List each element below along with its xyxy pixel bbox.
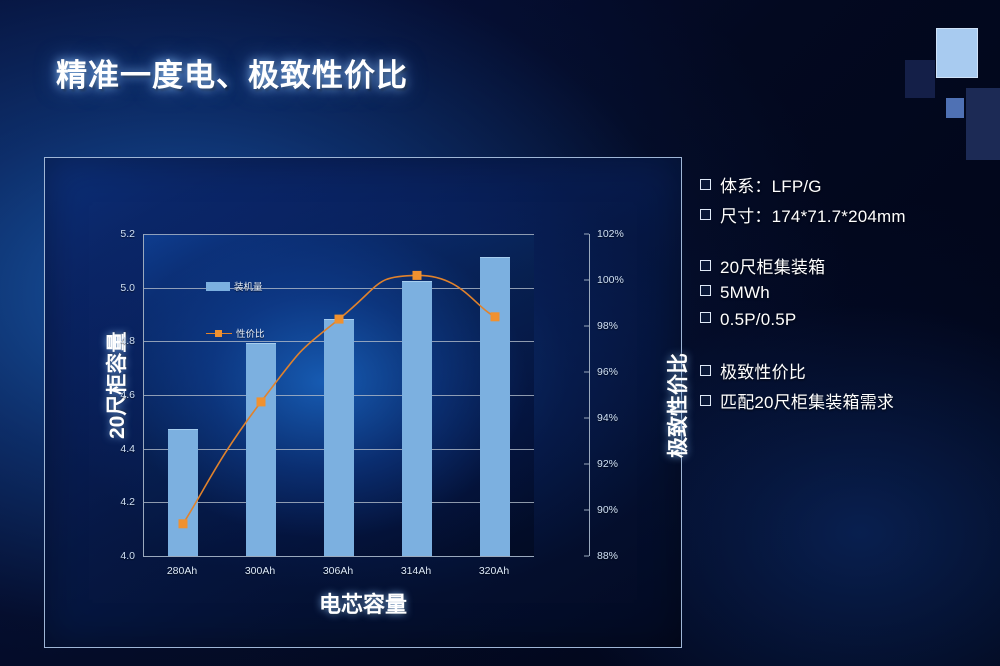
bar-320Ah bbox=[480, 257, 510, 556]
slide-canvas: 精准一度电、极致性价比 20尺柜容量 极致性价比 电芯容量 4.04.24.44… bbox=[0, 0, 1000, 666]
legend-line-swatch bbox=[206, 329, 232, 338]
x-tick-label-280Ah: 280Ah bbox=[167, 565, 197, 577]
y-axis-left-title: 20尺柜容量 bbox=[101, 332, 131, 439]
square-bullet-icon bbox=[700, 209, 711, 220]
bullet-item: 尺寸：174*71.7*204mm bbox=[700, 202, 990, 227]
bar-314Ah bbox=[402, 281, 432, 556]
decorative-square-2 bbox=[905, 60, 935, 98]
decorative-square-3 bbox=[946, 98, 964, 118]
legend-bar-label: 装机量 bbox=[234, 279, 263, 293]
bullet-item-label: 0.5P/0.5P bbox=[720, 310, 796, 330]
y2-tick-label: 88% bbox=[597, 550, 618, 562]
y-tick-label: 4.4 bbox=[120, 443, 135, 455]
square-bullet-icon bbox=[700, 260, 711, 271]
bullet-item: 匹配20尺柜集装箱需求 bbox=[700, 388, 990, 413]
legend-bar-swatch bbox=[206, 282, 230, 291]
legend-line-label: 性价比 bbox=[236, 326, 265, 340]
y-tick-label: 4.6 bbox=[120, 389, 135, 401]
y-tick-label: 4.8 bbox=[120, 335, 135, 347]
bullet-item-label: 体系：LFP/G bbox=[720, 172, 822, 197]
square-bullet-icon bbox=[700, 365, 711, 376]
y2-tick-label: 96% bbox=[597, 366, 618, 378]
x-tick-label-314Ah: 314Ah bbox=[401, 565, 431, 577]
y2-tick-label: 100% bbox=[597, 274, 624, 286]
x-tick-label-306Ah: 306Ah bbox=[323, 565, 353, 577]
bullet-item-label: 极致性价比 bbox=[720, 358, 806, 383]
bar-306Ah bbox=[324, 319, 354, 556]
bullet-item: 20尺柜集装箱 bbox=[700, 253, 990, 278]
gridline bbox=[144, 288, 534, 289]
square-bullet-icon bbox=[700, 312, 711, 323]
line-marker-314Ah bbox=[413, 271, 422, 280]
y2-tick-label: 102% bbox=[597, 228, 624, 240]
y2-tick-label: 98% bbox=[597, 320, 618, 332]
bullet-item: 0.5P/0.5P bbox=[700, 310, 990, 332]
bullet-item: 极致性价比 bbox=[700, 358, 990, 383]
bar-280Ah bbox=[168, 429, 198, 556]
decorative-square-1 bbox=[936, 28, 978, 78]
chart-panel: 20尺柜容量 极致性价比 电芯容量 4.04.24.44.64.85.05.2 … bbox=[44, 157, 682, 648]
gridline bbox=[144, 234, 534, 235]
square-bullet-icon bbox=[700, 285, 711, 296]
bullet-item-label: 尺寸：174*71.7*204mm bbox=[720, 202, 906, 227]
legend-item-bar: 装机量 bbox=[206, 279, 263, 293]
y-tick-label: 5.0 bbox=[120, 282, 135, 294]
bullet-item: 体系：LFP/G bbox=[700, 172, 990, 197]
y2-tick-label: 90% bbox=[597, 504, 618, 516]
spec-bullet-list: 体系：LFP/G尺寸：174*71.7*204mm20尺柜集装箱5MWh0.5P… bbox=[700, 172, 990, 418]
bullet-item: 5MWh bbox=[700, 283, 990, 305]
y-tick-label: 4.0 bbox=[120, 550, 135, 562]
x-tick-label-300Ah: 300Ah bbox=[245, 565, 275, 577]
bullet-item-label: 20尺柜集装箱 bbox=[720, 253, 825, 278]
page-title: 精准一度电、极致性价比 bbox=[56, 50, 408, 95]
y2-tick-label: 92% bbox=[597, 458, 618, 470]
y2-tick-label: 94% bbox=[597, 412, 618, 424]
y-tick-label: 5.2 bbox=[120, 228, 135, 240]
x-axis-title: 电芯容量 bbox=[45, 587, 681, 619]
square-bullet-icon bbox=[700, 395, 711, 406]
y-axis-right-title: 极致性价比 bbox=[662, 353, 692, 458]
plot-area: 装机量 性价比 bbox=[143, 234, 534, 557]
y-tick-label: 4.2 bbox=[120, 496, 135, 508]
x-tick-label-320Ah: 320Ah bbox=[479, 565, 509, 577]
legend-item-line: 性价比 bbox=[206, 326, 265, 340]
square-bullet-icon bbox=[700, 179, 711, 190]
decorative-square-4 bbox=[966, 88, 1000, 160]
bullet-item-label: 匹配20尺柜集装箱需求 bbox=[720, 388, 894, 413]
bar-300Ah bbox=[246, 343, 276, 556]
y-axis-right-line bbox=[589, 234, 590, 556]
bullet-item-label: 5MWh bbox=[720, 283, 770, 303]
